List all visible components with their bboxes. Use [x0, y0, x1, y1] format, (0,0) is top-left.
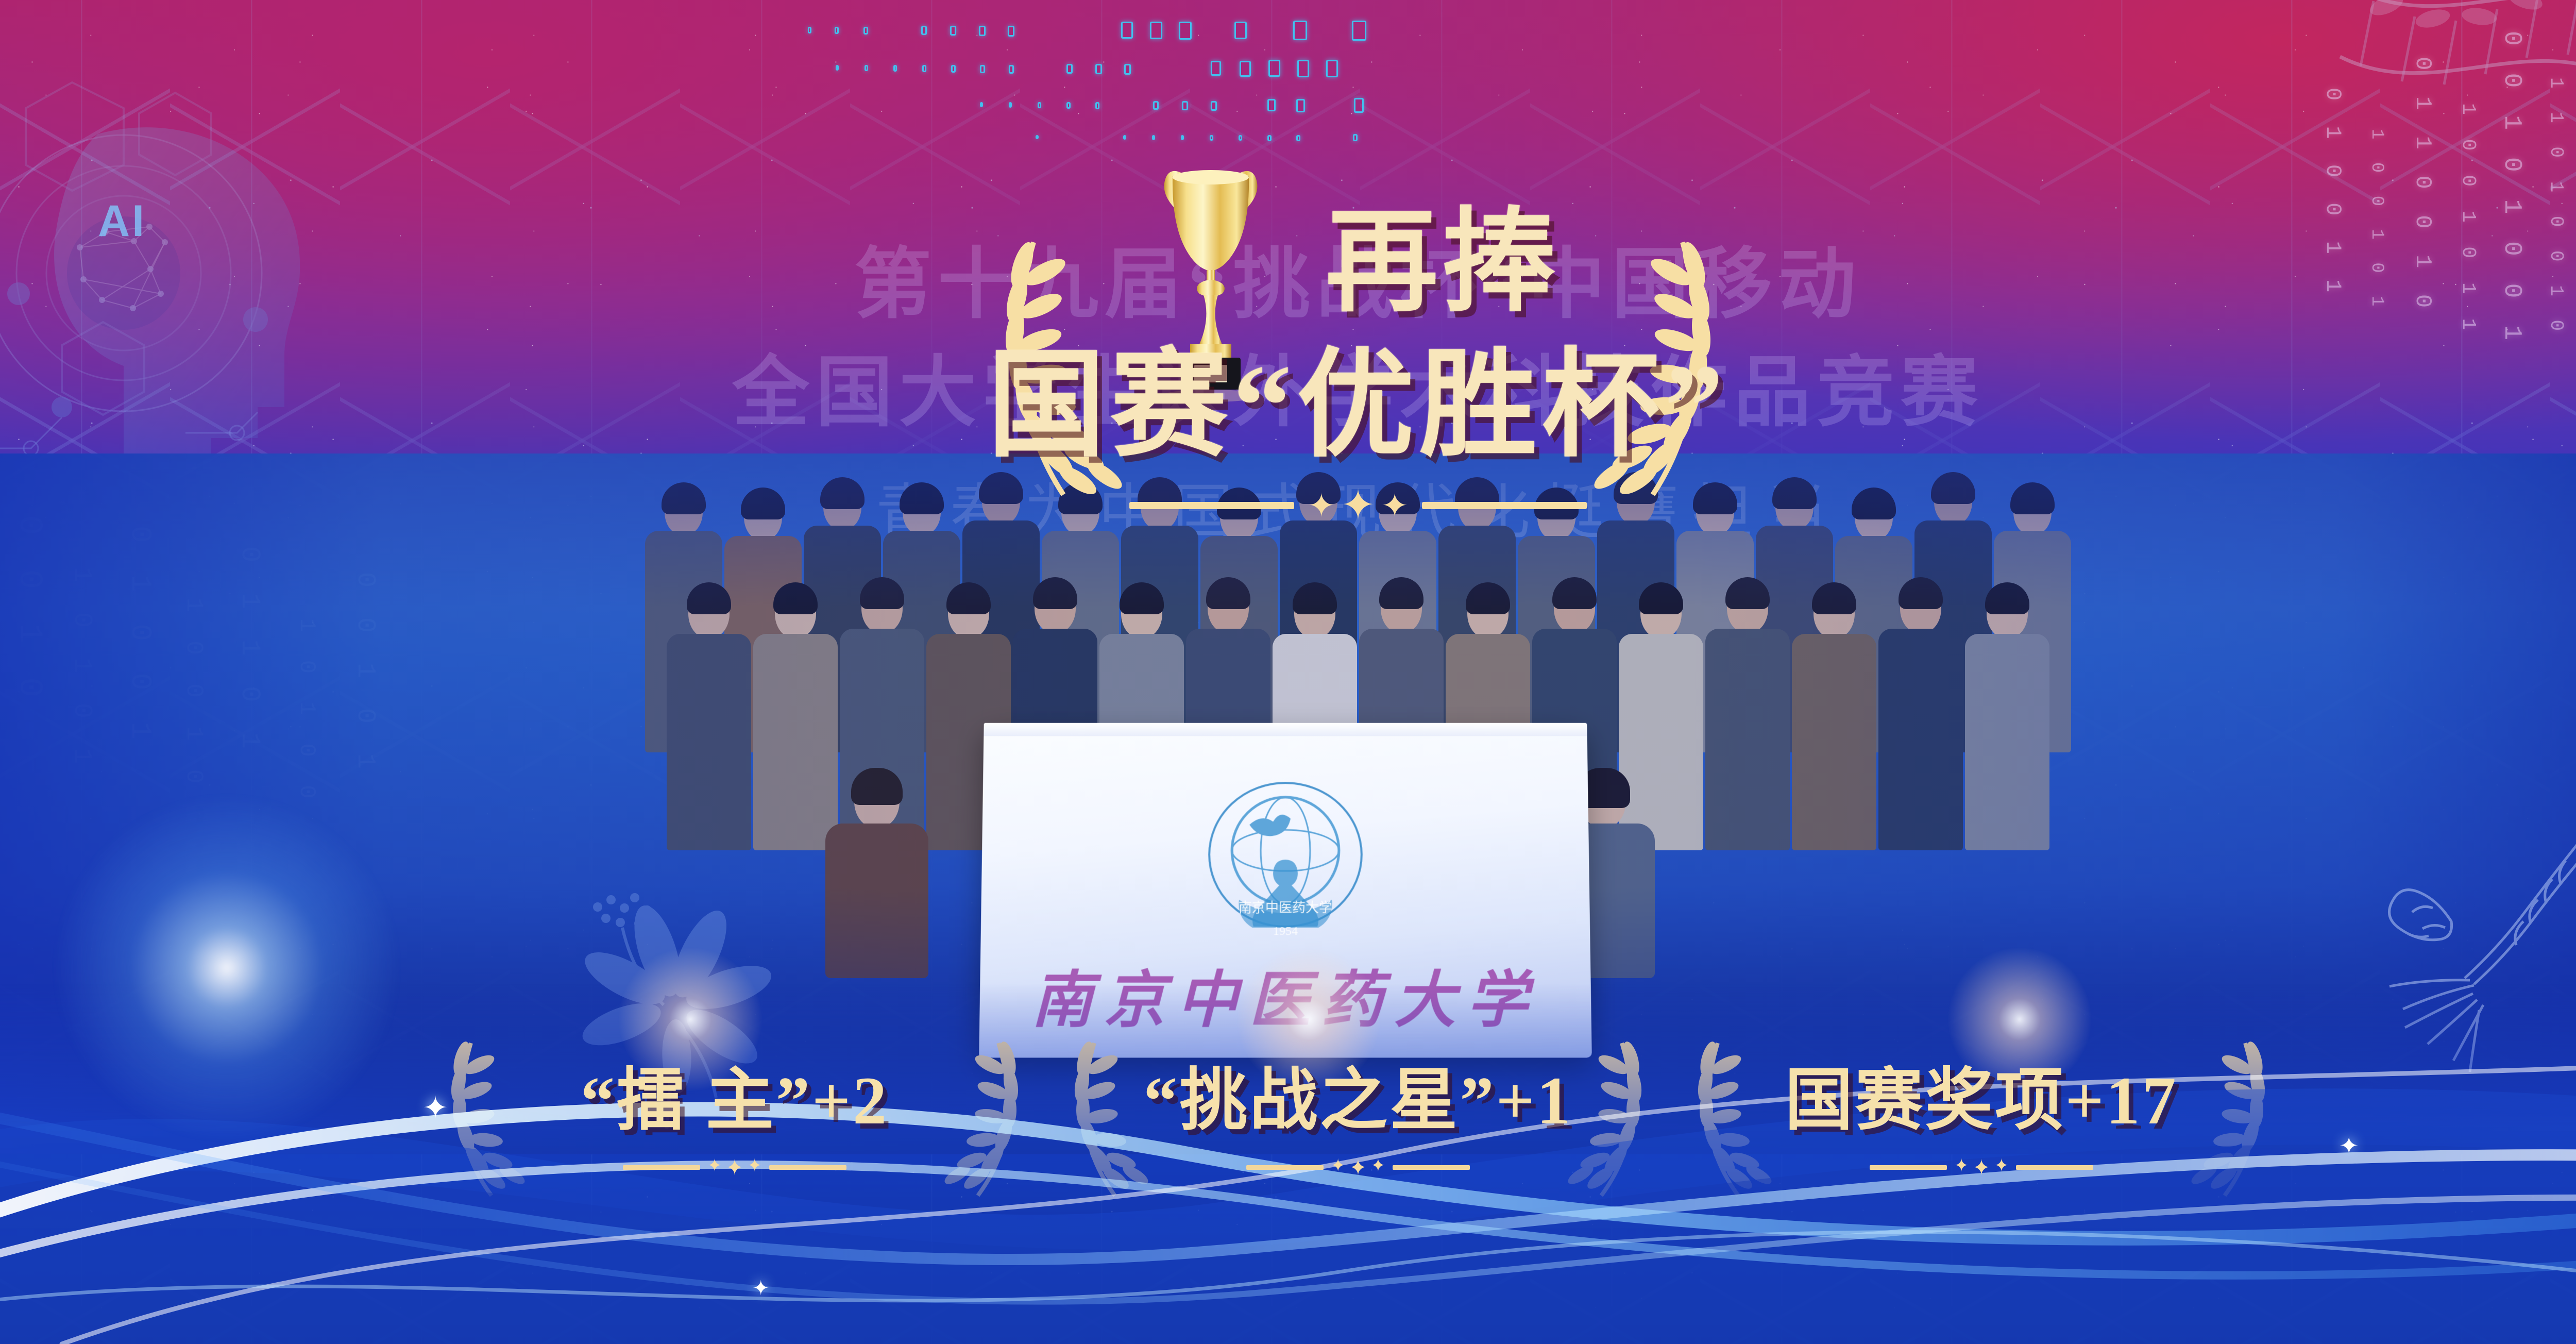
- star-icon: ✦: [1972, 1157, 1990, 1179]
- divider-bar-right: [1393, 1165, 1470, 1170]
- poster-canvas: AI 0: [0, 0, 2576, 1344]
- award-label: “擂 主”+2: [581, 1045, 889, 1144]
- divider-bar-right: [1422, 502, 1587, 509]
- divider-stars: ✦ ✦ ✦: [707, 1157, 762, 1179]
- divider-stars: ✦ ✦ ✦: [1954, 1157, 2009, 1179]
- star-icon: ✦: [707, 1157, 722, 1179]
- star-icon: ✦: [725, 1157, 743, 1179]
- dot-matrix-pattern: [747, 0, 1417, 149]
- light-flare-main: [46, 787, 407, 1148]
- star-icon: ✦: [1994, 1157, 2009, 1179]
- award-label: “挑战之星”+1: [1143, 1045, 1572, 1144]
- divider-bar-right: [2016, 1165, 2093, 1170]
- divider-bar-left: [1246, 1165, 1324, 1170]
- sparkle-icon: ✦: [2339, 1134, 2359, 1157]
- university-crest-icon: 南京中医药大学 1954: [1190, 778, 1381, 952]
- award-divider: ✦ ✦ ✦: [1246, 1157, 1470, 1179]
- divider-stars: ✦ ✦ ✦: [1308, 484, 1409, 527]
- headline-divider: ✦ ✦ ✦: [1129, 484, 1587, 527]
- star-icon: ✦: [1381, 489, 1409, 522]
- trophy-icon: [1123, 155, 1298, 402]
- divider-bar-left: [1870, 1165, 1947, 1170]
- divider-bar-right: [769, 1165, 846, 1170]
- star-icon: ✦: [1308, 489, 1335, 522]
- divider-bar-left: [1129, 502, 1294, 509]
- crest-year-text: 1954: [1273, 925, 1298, 938]
- star-icon: ✦: [1954, 1157, 1969, 1179]
- award-divider: ✦ ✦ ✦: [1870, 1157, 2093, 1179]
- crest-center-text: 南京中医药大学: [1239, 900, 1332, 915]
- sparkle-icon: ✦: [752, 1278, 770, 1299]
- divider-bar-left: [623, 1165, 700, 1170]
- star-icon: ✦: [1341, 484, 1376, 527]
- award-label: 国赛奖项+17: [1785, 1045, 2178, 1144]
- star-icon: ✦: [1371, 1157, 1386, 1179]
- banner-top-edge: [984, 723, 1587, 736]
- star-icon: ✦: [1349, 1157, 1367, 1179]
- star-icon: ✦: [748, 1157, 762, 1179]
- star-icon: ✦: [1331, 1157, 1346, 1179]
- award-divider: ✦ ✦ ✦: [623, 1157, 846, 1179]
- sparkle-icon: ✦: [422, 1093, 448, 1123]
- divider-stars: ✦ ✦ ✦: [1331, 1157, 1385, 1179]
